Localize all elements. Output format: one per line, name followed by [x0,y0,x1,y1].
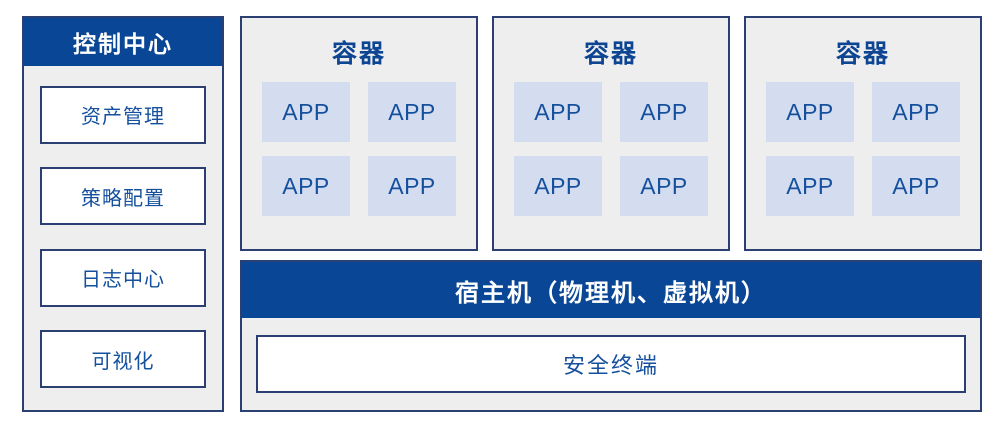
control-center-item-policy-configuration[interactable]: 策略配置 [40,167,206,225]
app-box[interactable]: APP [872,82,960,142]
control-center-item-visualization[interactable]: 可视化 [40,330,206,388]
container-panel-2: 容器 APP APP APP APP [492,16,730,251]
app-box[interactable]: APP [766,82,854,142]
control-center-item-log-center[interactable]: 日志中心 [40,249,206,307]
app-box[interactable]: APP [872,156,960,216]
container-panel-3: 容器 APP APP APP APP [744,16,982,251]
app-grid: APP APP APP APP [766,82,960,216]
app-box[interactable]: APP [368,82,456,142]
control-center-header: 控制中心 [24,18,222,66]
host-machine-header: 宿主机（物理机、虚拟机） [242,262,980,318]
control-center-panel: 控制中心 资产管理 策略配置 日志中心 可视化 [22,16,224,412]
control-center-item-list: 资产管理 策略配置 日志中心 可视化 [24,66,222,410]
container-title: 容器 [584,34,638,70]
app-grid: APP APP APP APP [262,82,456,216]
app-box[interactable]: APP [620,82,708,142]
container-panel-1: 容器 APP APP APP APP [240,16,478,251]
app-box[interactable]: APP [766,156,854,216]
app-box[interactable]: APP [368,156,456,216]
app-grid: APP APP APP APP [514,82,708,216]
control-center-item-asset-management[interactable]: 资产管理 [40,86,206,144]
app-box[interactable]: APP [514,82,602,142]
architecture-diagram: 控制中心 资产管理 策略配置 日志中心 可视化 容器 APP APP APP A… [0,0,1001,437]
host-machine-panel: 宿主机（物理机、虚拟机） 安全终端 [240,260,982,412]
app-box[interactable]: APP [262,82,350,142]
app-box[interactable]: APP [262,156,350,216]
secure-terminal-box[interactable]: 安全终端 [256,335,966,393]
app-box[interactable]: APP [620,156,708,216]
container-title: 容器 [332,34,386,70]
container-row: 容器 APP APP APP APP 容器 APP APP APP APP 容器… [240,16,982,251]
container-title: 容器 [836,34,890,70]
host-machine-body: 安全终端 [242,318,980,410]
app-box[interactable]: APP [514,156,602,216]
